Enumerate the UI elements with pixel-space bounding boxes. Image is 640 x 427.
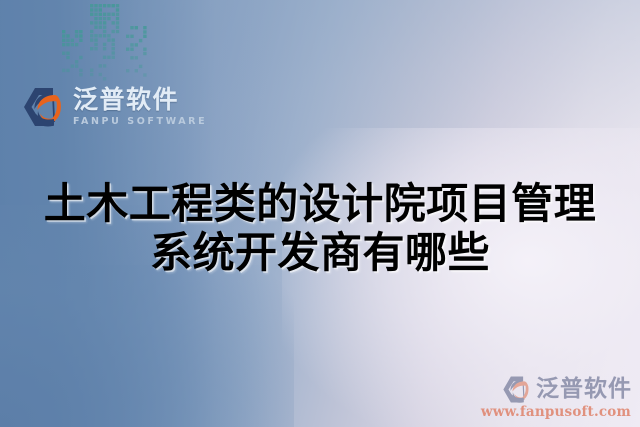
fanpu-watermark-logo-mark-icon [502, 375, 532, 404]
watermark-name-cn: 泛普软件 [536, 378, 632, 401]
brand-name-en: FANPU SOFTWARE [73, 117, 207, 127]
brand-wordmark: 泛普软件 FANPU SOFTWARE [73, 87, 207, 127]
fanpu-logo-mark-icon [22, 86, 66, 128]
pixel-dissolve-decoration [44, 0, 154, 84]
watermark-url: www.fanpusoft.com [481, 406, 631, 420]
brand-logo: 泛普软件 FANPU SOFTWARE [22, 86, 207, 128]
watermark: 泛普软件 www.fanpusoft.com [481, 375, 632, 420]
brand-name-cn: 泛普软件 [73, 87, 207, 112]
headline-line-1: 土木工程类的设计院项目管理 [0, 180, 640, 229]
watermark-logo-row: 泛普软件 [502, 375, 632, 404]
headline-title: 土木工程类的设计院项目管理 系统开发商有哪些 [0, 180, 640, 277]
headline-line-2: 系统开发商有哪些 [0, 229, 640, 278]
banner-image: 泛普软件 FANPU SOFTWARE 土木工程类的设计院项目管理 系统开发商有… [0, 0, 640, 427]
